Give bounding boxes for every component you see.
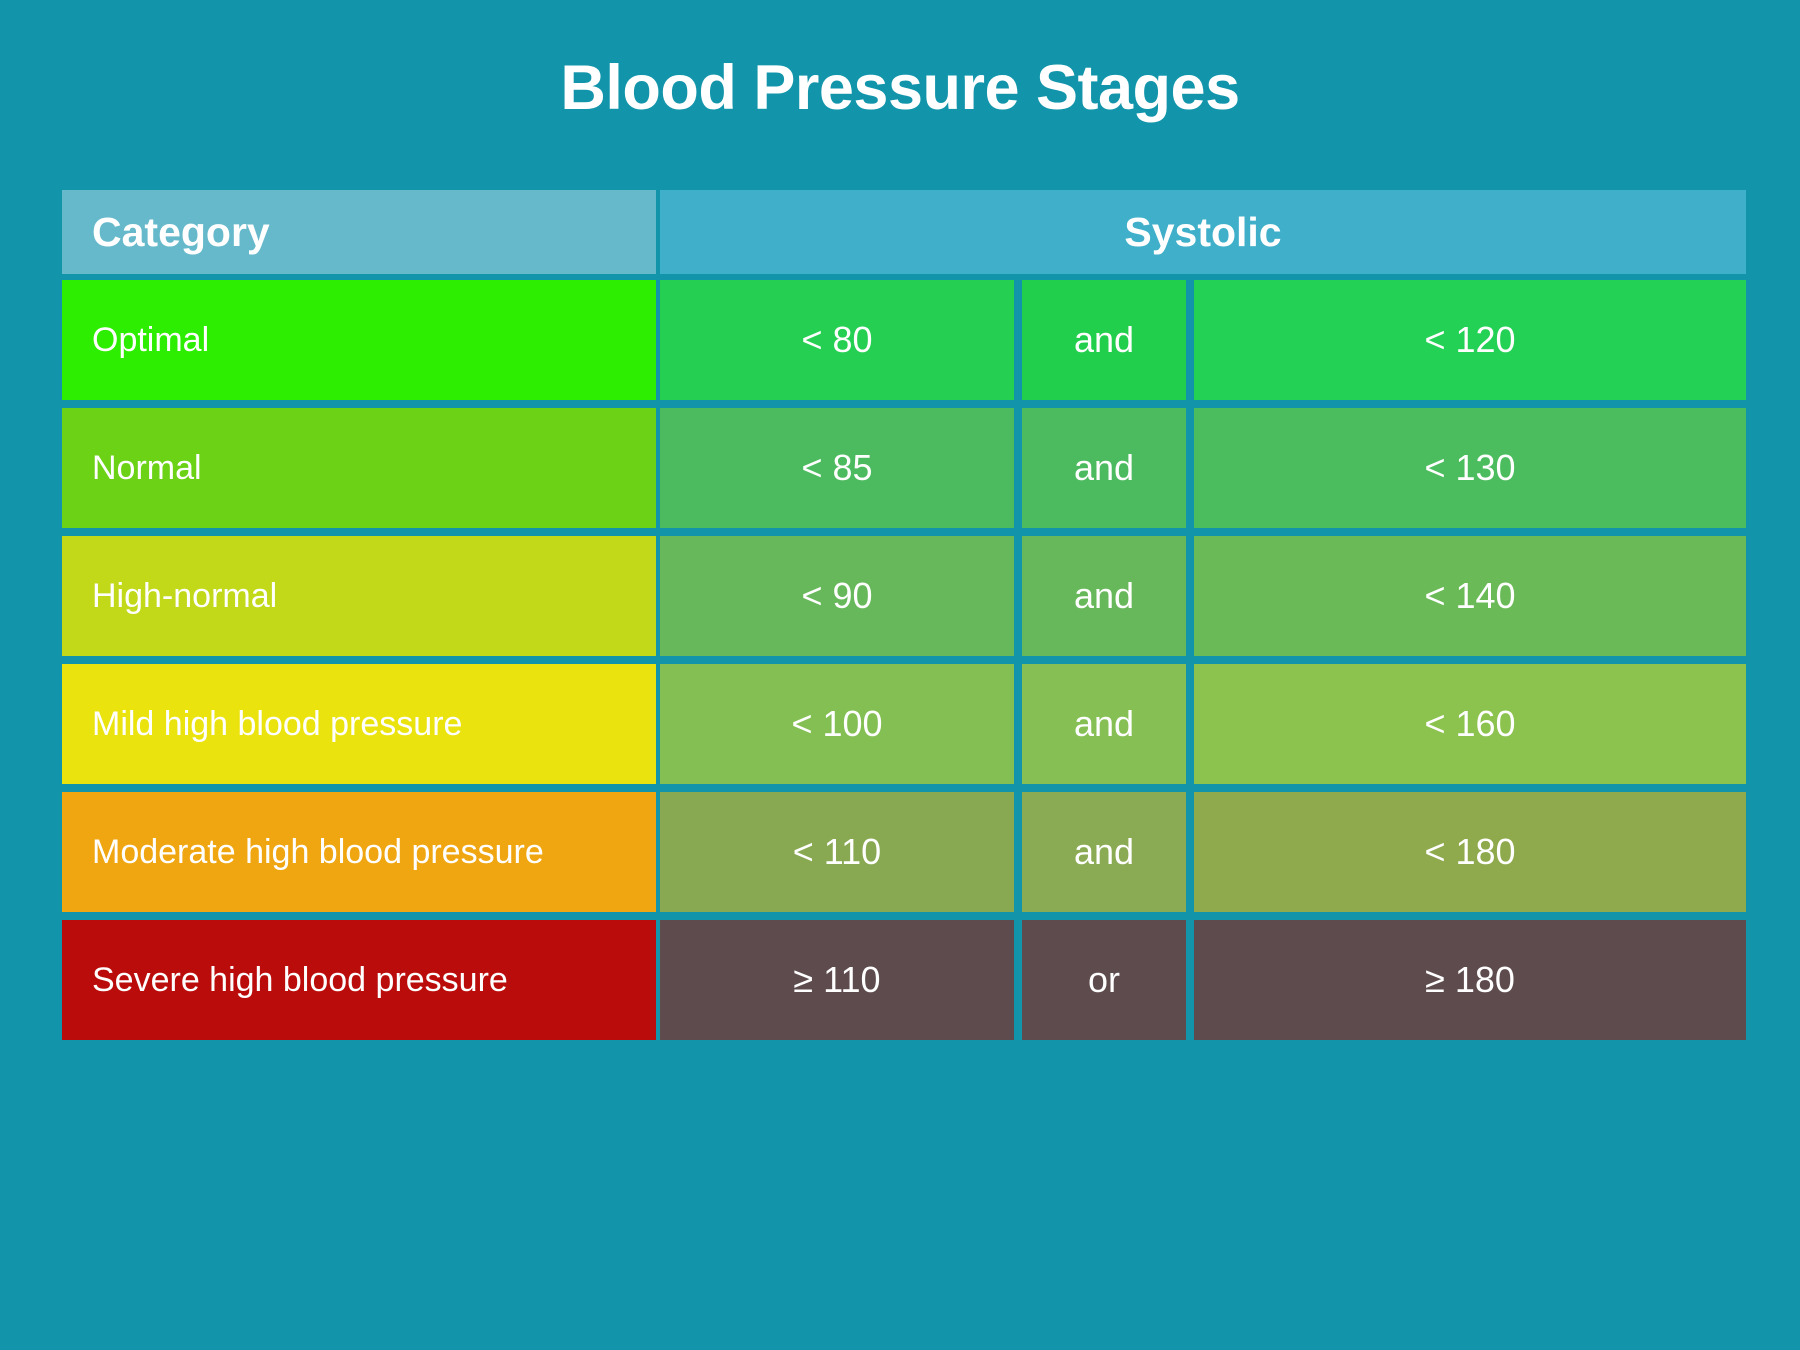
cell-conjunction: or [1022, 920, 1186, 1040]
header-cell-category: Category [62, 190, 656, 274]
diastolic-value: ≥ 110 [793, 959, 880, 1001]
diastolic-value: < 110 [793, 831, 881, 873]
table-row: Severe high blood pressure≥ 110or≥ 180 [62, 920, 1746, 1040]
column-gap [1186, 920, 1194, 1040]
cell-systolic-value: < 180 [1194, 792, 1746, 912]
table-row: Optimal< 80and< 120 [62, 280, 1746, 400]
cell-category: Mild high blood pressure [62, 664, 656, 784]
category-label: Severe high blood pressure [92, 961, 508, 1000]
diastolic-value: < 80 [801, 319, 872, 361]
systolic-value: < 120 [1424, 319, 1515, 361]
cell-conjunction: and [1022, 408, 1186, 528]
cell-diastolic-value: < 85 [660, 408, 1014, 528]
category-label: Optimal [92, 321, 209, 360]
conjunction-label: or [1088, 959, 1120, 1001]
systolic-value: < 180 [1424, 831, 1515, 873]
conjunction-label: and [1074, 447, 1134, 489]
cell-systolic-value: < 120 [1194, 280, 1746, 400]
table-row: Mild high blood pressure< 100and< 160 [62, 664, 1746, 784]
cell-systolic-value: < 130 [1194, 408, 1746, 528]
header-label-category: Category [92, 209, 270, 256]
column-gap [1186, 408, 1194, 528]
header-cell-systolic-group: Systolic [660, 190, 1746, 274]
category-label: High-normal [92, 577, 277, 616]
column-gap [1014, 664, 1022, 784]
cell-conjunction: and [1022, 536, 1186, 656]
column-gap [1014, 280, 1022, 400]
cell-systolic-value: ≥ 180 [1194, 920, 1746, 1040]
column-gap [1186, 792, 1194, 912]
cell-category: High-normal [62, 536, 656, 656]
table-row: Normal< 85and< 130 [62, 408, 1746, 528]
category-label: Normal [92, 449, 202, 488]
table-body: Optimal< 80and< 120Normal< 85and< 130Hig… [62, 280, 1746, 1040]
cell-diastolic-value: ≥ 110 [660, 920, 1014, 1040]
column-gap [1014, 408, 1022, 528]
blood-pressure-table: Category Systolic Optimal< 80and< 120Nor… [62, 190, 1746, 1040]
infographic-page: Blood Pressure Stages Category Systolic … [0, 0, 1800, 1350]
diastolic-value: < 90 [801, 575, 872, 617]
category-label: Moderate high blood pressure [92, 833, 544, 872]
systolic-value: < 140 [1424, 575, 1515, 617]
cell-category: Optimal [62, 280, 656, 400]
conjunction-label: and [1074, 831, 1134, 873]
conjunction-label: and [1074, 703, 1134, 745]
systolic-value: ≥ 180 [1425, 959, 1515, 1001]
page-title: Blood Pressure Stages [0, 52, 1800, 124]
cell-conjunction: and [1022, 792, 1186, 912]
column-gap [1186, 664, 1194, 784]
cell-conjunction: and [1022, 280, 1186, 400]
conjunction-label: and [1074, 575, 1134, 617]
cell-diastolic-value: < 80 [660, 280, 1014, 400]
table-header-row: Category Systolic [62, 190, 1746, 274]
systolic-value: < 130 [1424, 447, 1515, 489]
column-gap [1186, 536, 1194, 656]
table-row: High-normal< 90and< 140 [62, 536, 1746, 656]
cell-conjunction: and [1022, 664, 1186, 784]
conjunction-label: and [1074, 319, 1134, 361]
cell-diastolic-value: < 90 [660, 536, 1014, 656]
cell-systolic-value: < 160 [1194, 664, 1746, 784]
cell-systolic-value: < 140 [1194, 536, 1746, 656]
diastolic-value: < 100 [791, 703, 882, 745]
systolic-value: < 160 [1424, 703, 1515, 745]
column-gap [1186, 280, 1194, 400]
header-label-systolic: Systolic [1124, 209, 1281, 256]
header-label-systolic-wrap: Systolic [660, 190, 1746, 274]
column-gap [1014, 792, 1022, 912]
column-gap [1014, 536, 1022, 656]
category-label: Mild high blood pressure [92, 705, 462, 744]
cell-diastolic-value: < 100 [660, 664, 1014, 784]
cell-category: Normal [62, 408, 656, 528]
cell-category: Severe high blood pressure [62, 920, 656, 1040]
diastolic-value: < 85 [801, 447, 872, 489]
cell-diastolic-value: < 110 [660, 792, 1014, 912]
table-row: Moderate high blood pressure< 110and< 18… [62, 792, 1746, 912]
column-gap [1014, 920, 1022, 1040]
cell-category: Moderate high blood pressure [62, 792, 656, 912]
